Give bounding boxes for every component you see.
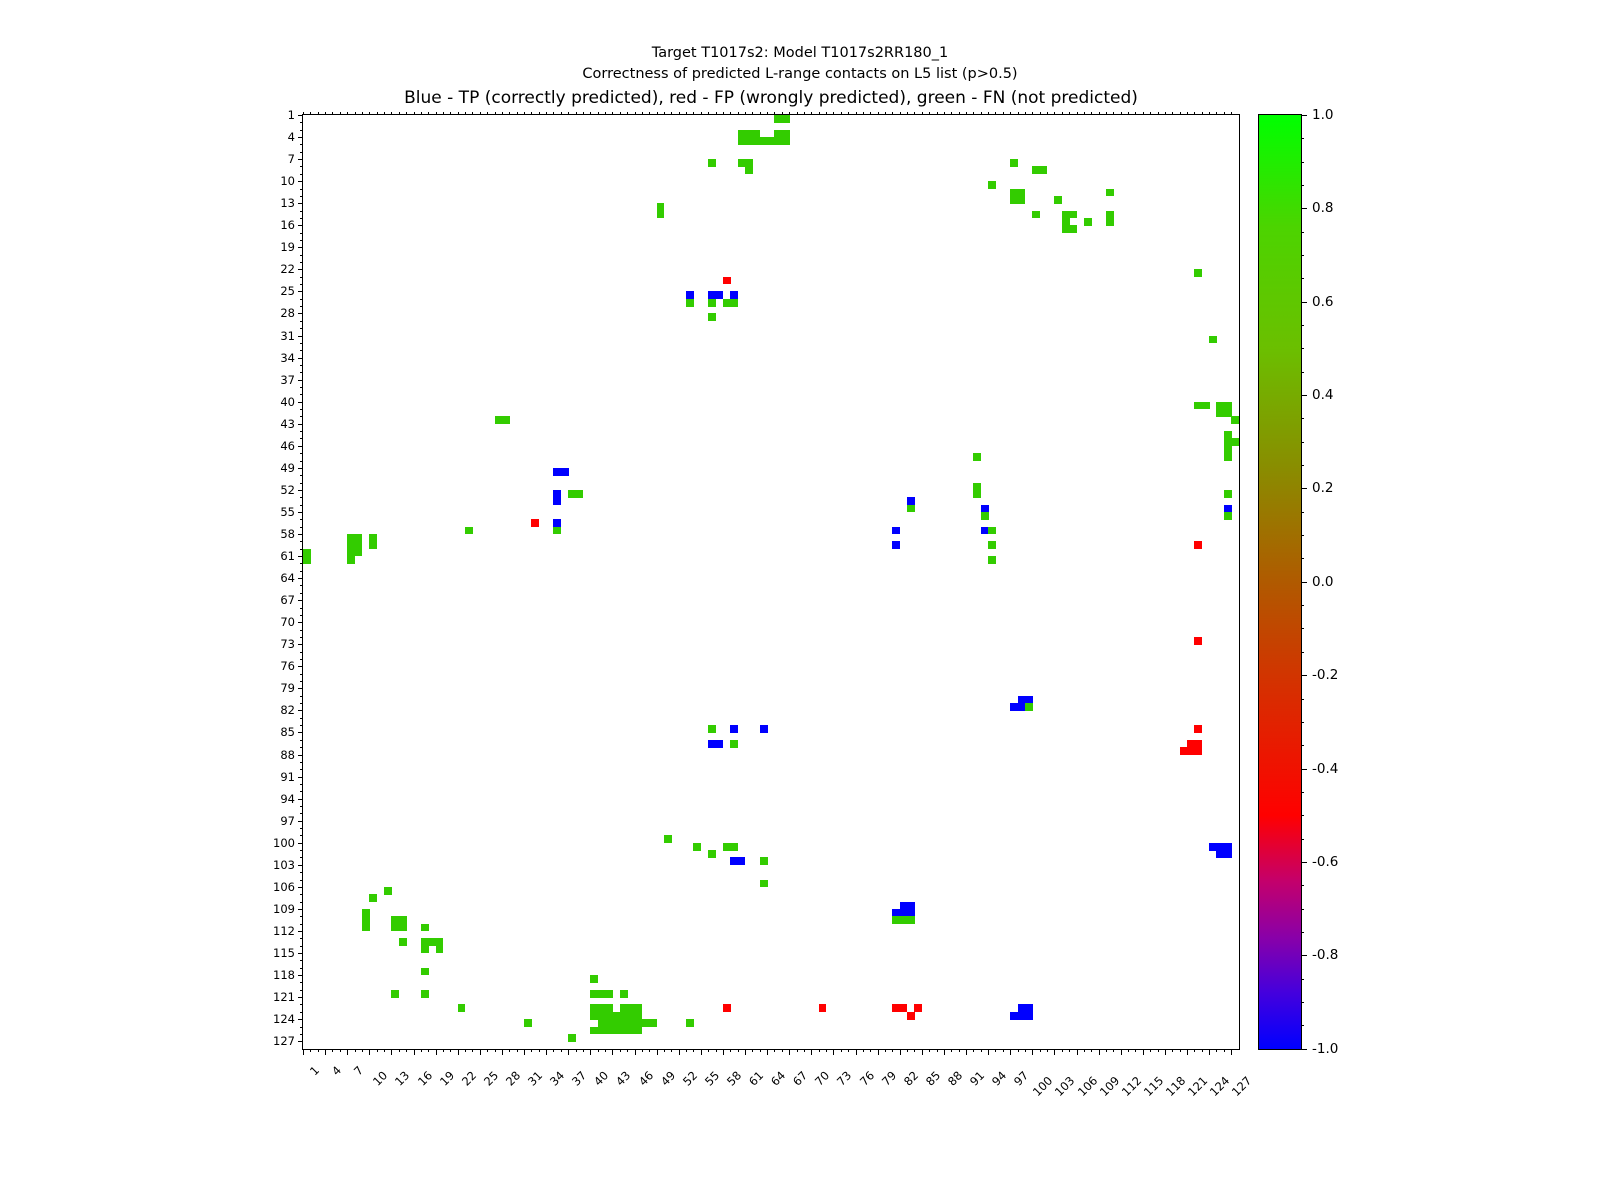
colorbar-minor-tick <box>1301 699 1304 700</box>
x-axis-minor-tick <box>310 1049 311 1052</box>
x-axis-minor-tick <box>1018 1049 1019 1052</box>
x-axis-minor-tick <box>716 1049 717 1052</box>
x-axis-minor-tick <box>1194 1049 1195 1052</box>
x-axis-minor-tick <box>1069 1049 1070 1052</box>
heatmap-cell <box>1054 196 1062 204</box>
y-axis-minor-tick <box>300 549 303 550</box>
y-axis-minor-tick <box>300 593 303 594</box>
x-axis-top-tick <box>797 112 798 115</box>
y-axis-minor-tick <box>300 571 303 572</box>
y-axis-minor-tick <box>300 1012 303 1013</box>
colorbar-minor-tick <box>1301 745 1304 746</box>
y-axis-tick-label: 91 <box>280 770 295 784</box>
x-axis-minor-tick <box>1158 1049 1159 1052</box>
x-axis-top-tick <box>517 112 518 115</box>
x-axis-minor-tick <box>693 1049 694 1052</box>
x-axis-major-tick <box>1099 1049 1100 1055</box>
x-axis-major-tick <box>436 1049 437 1055</box>
x-axis-top-tick <box>1121 112 1122 115</box>
colorbar-minor-tick <box>1301 605 1304 606</box>
colorbar-minor-tick <box>1301 815 1304 816</box>
y-axis-tick-label: 43 <box>280 417 295 431</box>
x-axis-top-tick <box>458 112 459 115</box>
x-axis-minor-tick <box>848 1049 849 1052</box>
x-axis-top-tick <box>310 112 311 115</box>
y-axis-major-tick <box>298 490 304 491</box>
y-axis-tick-label: 70 <box>280 615 295 629</box>
x-axis-top-tick <box>981 112 982 115</box>
x-axis-top-tick <box>716 112 717 115</box>
colorbar-tick-label: 1.0 <box>1312 107 1333 123</box>
y-axis-minor-tick <box>300 475 303 476</box>
x-axis-tick-label: 25 <box>481 1068 501 1088</box>
x-axis-top-tick <box>502 112 503 115</box>
colorbar-minor-tick <box>1301 885 1304 886</box>
x-axis-minor-tick <box>951 1049 952 1052</box>
x-axis-top-tick <box>951 112 952 115</box>
x-axis-tick-label: 16 <box>414 1068 434 1088</box>
x-axis-major-tick <box>745 1049 746 1055</box>
y-axis-major-tick <box>298 644 304 645</box>
x-axis-major-tick <box>524 1049 525 1055</box>
colorbar-minor-tick <box>1301 652 1304 653</box>
x-axis-tick-label: 37 <box>569 1068 589 1088</box>
heatmap-cell <box>605 990 613 998</box>
x-axis-top-tick <box>907 112 908 115</box>
x-axis-top-tick <box>1113 112 1114 115</box>
y-axis-minor-tick <box>300 218 303 219</box>
y-axis-minor-tick <box>300 394 303 395</box>
colorbar-minor-tick <box>1301 278 1304 279</box>
colorbar-minor-tick <box>1301 932 1304 933</box>
x-axis-minor-tick <box>627 1049 628 1052</box>
y-axis-tick-label: 19 <box>280 240 295 254</box>
y-axis-major-tick <box>298 402 304 403</box>
y-axis-minor-tick <box>300 284 303 285</box>
x-axis-tick-label: 91 <box>967 1068 987 1088</box>
heatmap-cell <box>708 159 716 167</box>
heatmap-cell <box>981 512 989 520</box>
x-axis-top-tick <box>436 112 437 115</box>
x-axis-top-tick <box>561 112 562 115</box>
heatmap-cell <box>730 843 738 851</box>
y-axis-minor-tick <box>300 144 303 145</box>
colorbar-minor-tick <box>1301 418 1304 419</box>
x-axis-tick-label: 79 <box>879 1068 899 1088</box>
x-axis-minor-tick <box>487 1049 488 1052</box>
x-axis-tick-label: 82 <box>901 1068 921 1088</box>
x-axis-tick-label: 46 <box>635 1068 655 1088</box>
x-axis-top-tick <box>966 112 967 115</box>
x-axis-minor-tick <box>892 1049 893 1052</box>
x-axis-top-tick <box>568 112 569 115</box>
y-axis-minor-tick <box>300 1027 303 1028</box>
x-axis-top-tick <box>598 112 599 115</box>
heatmap-cell <box>907 505 915 513</box>
y-axis-tick-label: 121 <box>273 990 295 1004</box>
colorbar-tick <box>1301 208 1307 209</box>
x-axis-minor-tick <box>907 1049 908 1052</box>
x-axis-major-tick <box>988 1049 989 1055</box>
heatmap-cell <box>914 1004 922 1012</box>
y-axis-tick-label: 22 <box>280 262 295 276</box>
x-axis-top-tick <box>959 112 960 115</box>
x-axis-minor-tick <box>576 1049 577 1052</box>
y-axis-minor-tick <box>300 189 303 190</box>
heatmap-cell <box>1069 225 1077 233</box>
x-axis-minor-tick <box>664 1049 665 1052</box>
x-axis-top-tick <box>1018 112 1019 115</box>
x-axis-top-tick <box>988 112 989 115</box>
x-axis-tick-label: 13 <box>392 1068 412 1088</box>
colorbar[interactable]: 1.00.80.60.40.20.0-0.2-0.4-0.6-0.8-1.0 <box>1258 114 1302 1050</box>
x-axis-top-tick <box>406 112 407 115</box>
x-axis-minor-tick <box>1091 1049 1092 1052</box>
heatmap-cell <box>1018 196 1026 204</box>
heatmap-cell <box>576 490 584 498</box>
y-axis-minor-tick <box>300 299 303 300</box>
x-axis-minor-tick <box>1040 1049 1041 1052</box>
y-axis-minor-tick <box>300 519 303 520</box>
heatmap-cell <box>421 990 429 998</box>
colorbar-minor-tick <box>1301 628 1304 629</box>
x-axis-minor-tick <box>340 1049 341 1052</box>
x-axis-minor-tick <box>1062 1049 1063 1052</box>
heatmap-cell <box>686 299 694 307</box>
x-axis-top-tick <box>325 112 326 115</box>
x-axis-top-tick <box>937 112 938 115</box>
heatmap-cell <box>1025 703 1033 711</box>
x-axis-minor-tick <box>620 1049 621 1052</box>
colorbar-minor-tick <box>1301 162 1304 163</box>
y-axis-major-tick <box>298 578 304 579</box>
heatmap-cell <box>708 313 716 321</box>
x-axis-top-tick <box>929 112 930 115</box>
heatmap-cell <box>590 975 598 983</box>
heatmap-cell <box>553 527 561 535</box>
x-axis-major-tick <box>701 1049 702 1055</box>
heatmap-cell <box>1194 637 1202 645</box>
y-axis-minor-tick <box>300 306 303 307</box>
y-axis-minor-tick <box>300 387 303 388</box>
y-axis-minor-tick <box>300 806 303 807</box>
x-axis-top-tick <box>671 112 672 115</box>
x-axis-major-tick <box>1209 1049 1210 1055</box>
y-axis-tick-label: 112 <box>273 924 295 938</box>
heatmap-cell <box>421 968 429 976</box>
x-axis-minor-tick <box>937 1049 938 1052</box>
y-axis-minor-tick <box>300 696 303 697</box>
x-axis-top-tick <box>826 112 827 115</box>
x-axis-major-tick <box>458 1049 459 1055</box>
heatmap-cell <box>1025 1012 1033 1020</box>
x-axis-minor-tick <box>421 1049 422 1052</box>
x-axis-top-tick <box>340 112 341 115</box>
x-axis-minor-tick <box>738 1049 739 1052</box>
y-axis-major-tick <box>298 137 304 138</box>
x-axis-major-tick <box>391 1049 392 1055</box>
y-axis-tick-label: 28 <box>280 306 295 320</box>
x-axis-major-tick <box>1187 1049 1188 1055</box>
x-axis-minor-tick <box>377 1049 378 1052</box>
y-axis-minor-tick <box>300 725 303 726</box>
x-axis-top-tick <box>642 112 643 115</box>
heatmap-cell <box>723 277 731 285</box>
x-axis-tick-label: 64 <box>768 1068 788 1088</box>
x-axis-tick-label: 88 <box>945 1068 965 1088</box>
y-axis-minor-tick <box>300 328 303 329</box>
x-axis-top-tick <box>1224 112 1225 115</box>
x-axis-major-tick <box>922 1049 923 1055</box>
contact-map-plot[interactable]: 1144771010131316161919222225252828313134… <box>302 114 1240 1050</box>
y-axis-major-tick <box>298 512 304 513</box>
x-axis-top-tick <box>1099 112 1100 115</box>
y-axis-minor-tick <box>300 483 303 484</box>
x-axis-minor-tick <box>686 1049 687 1052</box>
y-axis-minor-tick <box>300 255 303 256</box>
x-axis-major-tick <box>347 1049 348 1055</box>
x-axis-major-tick <box>502 1049 503 1055</box>
heatmap-cell <box>745 166 753 174</box>
y-axis-tick-label: 115 <box>273 946 295 960</box>
suptitle-line-1: Target T1017s2: Model T1017s2RR180_1 <box>652 45 949 61</box>
colorbar-tick-label: 0.6 <box>1312 294 1333 310</box>
x-axis-top-tick <box>995 112 996 115</box>
y-axis-minor-tick <box>300 277 303 278</box>
x-axis-top-tick <box>1135 112 1136 115</box>
x-axis-minor-tick <box>782 1049 783 1052</box>
x-axis-minor-tick <box>605 1049 606 1052</box>
x-axis-minor-tick <box>752 1049 753 1052</box>
x-axis-top-tick <box>811 112 812 115</box>
x-axis-top-tick <box>332 112 333 115</box>
y-axis-minor-tick <box>300 343 303 344</box>
y-axis-tick-label: 7 <box>288 152 295 166</box>
heatmap-cell <box>421 946 429 954</box>
y-axis-minor-tick <box>300 769 303 770</box>
heatmap-cell <box>1224 850 1232 858</box>
x-axis-top-tick <box>377 112 378 115</box>
y-axis-minor-tick <box>300 652 303 653</box>
x-axis-top-tick <box>856 112 857 115</box>
x-axis-top-tick <box>1091 112 1092 115</box>
heatmap-cell <box>760 725 768 733</box>
x-axis-minor-tick <box>1128 1049 1129 1052</box>
y-axis-minor-tick <box>300 857 303 858</box>
colorbar-tick-label: 0.4 <box>1312 387 1333 403</box>
x-axis-minor-tick <box>553 1049 554 1052</box>
heatmap-cell <box>1202 402 1210 410</box>
y-axis-tick-label: 37 <box>280 373 295 387</box>
x-axis-minor-tick <box>826 1049 827 1052</box>
x-axis-top-tick <box>649 112 650 115</box>
x-axis-minor-tick <box>428 1049 429 1052</box>
x-axis-minor-tick <box>863 1049 864 1052</box>
x-axis-major-tick <box>1165 1049 1166 1055</box>
y-axis-minor-tick <box>300 541 303 542</box>
y-axis-minor-tick <box>300 916 303 917</box>
x-axis-top-tick <box>752 112 753 115</box>
x-axis-minor-tick <box>583 1049 584 1052</box>
x-axis-minor-tick <box>517 1049 518 1052</box>
y-axis-minor-tick <box>300 740 303 741</box>
x-axis-top-tick <box>450 112 451 115</box>
x-axis-top-tick <box>848 112 849 115</box>
x-axis-tick-label: 58 <box>724 1068 744 1088</box>
x-axis-top-tick <box>1128 112 1129 115</box>
heatmap-cell <box>421 924 429 932</box>
heatmap-cell <box>988 556 996 564</box>
x-axis-major-tick <box>833 1049 834 1055</box>
colorbar-minor-tick <box>1301 232 1304 233</box>
x-axis-top-tick <box>546 112 547 115</box>
y-axis-minor-tick <box>300 166 303 167</box>
x-axis-major-tick <box>966 1049 967 1055</box>
y-axis-minor-tick <box>300 585 303 586</box>
x-axis-top-tick <box>774 112 775 115</box>
y-axis-minor-tick <box>300 1034 303 1035</box>
x-axis-top-tick <box>583 112 584 115</box>
heatmap-cell <box>399 924 407 932</box>
x-axis-minor-tick <box>671 1049 672 1052</box>
y-axis-tick-label: 52 <box>280 483 295 497</box>
y-axis-tick-label: 100 <box>273 836 295 850</box>
y-axis-major-tick <box>298 336 304 337</box>
y-axis-minor-tick <box>300 784 303 785</box>
x-axis-major-tick <box>325 1049 326 1055</box>
x-axis-top-tick <box>922 112 923 115</box>
x-axis-minor-tick <box>465 1049 466 1052</box>
x-axis-major-tick <box>789 1049 790 1055</box>
x-axis-minor-tick <box>804 1049 805 1052</box>
heatmap-cell <box>1010 159 1018 167</box>
x-axis-top-tick <box>384 112 385 115</box>
x-axis-tick-label: 55 <box>702 1068 722 1088</box>
heatmap-cell <box>657 211 665 219</box>
y-axis-major-tick <box>298 181 304 182</box>
x-axis-top-tick <box>487 112 488 115</box>
heatmap-cell <box>362 924 370 932</box>
colorbar-minor-tick <box>1301 512 1304 513</box>
heatmap-cell <box>1231 416 1239 424</box>
y-axis-tick-label: 109 <box>273 902 295 916</box>
y-axis-major-tick <box>298 777 304 778</box>
x-axis-minor-tick <box>1172 1049 1173 1052</box>
heatmap-cell <box>347 556 355 564</box>
y-axis-tick-label: 31 <box>280 329 295 343</box>
heatmap-cell <box>730 299 738 307</box>
x-axis-minor-tick <box>841 1049 842 1052</box>
heatmap-cell <box>716 740 724 748</box>
heatmap-cell <box>1106 218 1114 226</box>
y-axis-minor-tick <box>300 211 303 212</box>
x-axis-major-tick <box>635 1049 636 1055</box>
x-axis-tick-label: 67 <box>790 1068 810 1088</box>
colorbar-minor-tick <box>1301 372 1304 373</box>
heatmap-cell <box>553 497 561 505</box>
heatmap-cell <box>988 527 996 535</box>
x-axis-top-tick <box>767 112 768 115</box>
y-axis-tick-label: 46 <box>280 439 295 453</box>
colorbar-tick <box>1301 769 1307 770</box>
y-axis-major-tick <box>298 380 304 381</box>
x-axis-tick-label: 124 <box>1207 1074 1232 1099</box>
x-axis-minor-tick <box>774 1049 775 1052</box>
y-axis-tick-label: 127 <box>273 1034 295 1048</box>
x-axis-tick-label: 4 <box>329 1063 344 1078</box>
colorbar-minor-tick <box>1301 722 1304 723</box>
x-axis-minor-tick <box>509 1049 510 1052</box>
heatmap-cell <box>355 549 363 557</box>
y-axis-minor-tick <box>300 174 303 175</box>
y-axis-tick-label: 106 <box>273 880 295 894</box>
x-axis-minor-tick <box>797 1049 798 1052</box>
colorbar-minor-tick <box>1301 1025 1304 1026</box>
colorbar-tick-label: -0.8 <box>1312 947 1338 963</box>
suptitle-line-2: Correctness of predicted L-range contact… <box>0 64 1600 85</box>
y-axis-minor-tick <box>300 233 303 234</box>
y-axis-major-tick <box>298 247 304 248</box>
x-axis-tick-label: 10 <box>370 1068 390 1088</box>
colorbar-minor-tick <box>1301 909 1304 910</box>
x-axis-top-tick <box>973 112 974 115</box>
heatmap-cell <box>391 990 399 998</box>
x-axis-top-tick <box>730 112 731 115</box>
y-axis-major-tick <box>298 313 304 314</box>
colorbar-minor-tick <box>1301 535 1304 536</box>
y-axis-minor-tick <box>300 703 303 704</box>
x-axis-tick-label: 73 <box>834 1068 854 1088</box>
x-axis-top-tick <box>509 112 510 115</box>
colorbar-tick-label: 0.8 <box>1312 200 1333 216</box>
x-axis-major-tick <box>723 1049 724 1055</box>
x-axis-top-tick <box>1143 112 1144 115</box>
x-axis-tick-label: 115 <box>1141 1074 1166 1099</box>
y-axis-minor-tick <box>300 872 303 873</box>
x-axis-top-tick <box>399 112 400 115</box>
y-axis-minor-tick <box>300 615 303 616</box>
x-axis-top-tick <box>1032 112 1033 115</box>
x-axis-tick-label: 19 <box>437 1068 457 1088</box>
y-axis-major-tick <box>298 688 304 689</box>
x-axis-minor-tick <box>1047 1049 1048 1052</box>
heatmap-cell <box>708 299 716 307</box>
y-axis-tick-label: 85 <box>280 725 295 739</box>
x-axis-major-tick <box>1231 1049 1232 1055</box>
x-axis-tick-label: 43 <box>613 1068 633 1088</box>
x-axis-major-tick <box>612 1049 613 1055</box>
y-axis-minor-tick <box>300 563 303 564</box>
heatmap-cell <box>635 1027 643 1035</box>
colorbar-minor-tick <box>1301 348 1304 349</box>
colorbar-tick <box>1301 955 1307 956</box>
y-axis-major-tick <box>298 115 304 116</box>
x-axis-tick-label: 7 <box>351 1063 366 1078</box>
heatmap-cell <box>458 1004 466 1012</box>
colorbar-tick <box>1301 582 1307 583</box>
y-axis-major-tick <box>298 666 304 667</box>
y-axis-major-tick <box>298 556 304 557</box>
x-axis-top-tick <box>1025 112 1026 115</box>
x-axis-minor-tick <box>1113 1049 1114 1052</box>
y-axis-major-tick <box>298 203 304 204</box>
colorbar-tick <box>1301 1049 1307 1050</box>
x-axis-tick-label: 112 <box>1119 1074 1144 1099</box>
x-axis-tick-label: 127 <box>1229 1074 1254 1099</box>
x-axis-top-tick <box>819 112 820 115</box>
x-axis-top-tick <box>1040 112 1041 115</box>
y-axis-minor-tick <box>300 122 303 123</box>
